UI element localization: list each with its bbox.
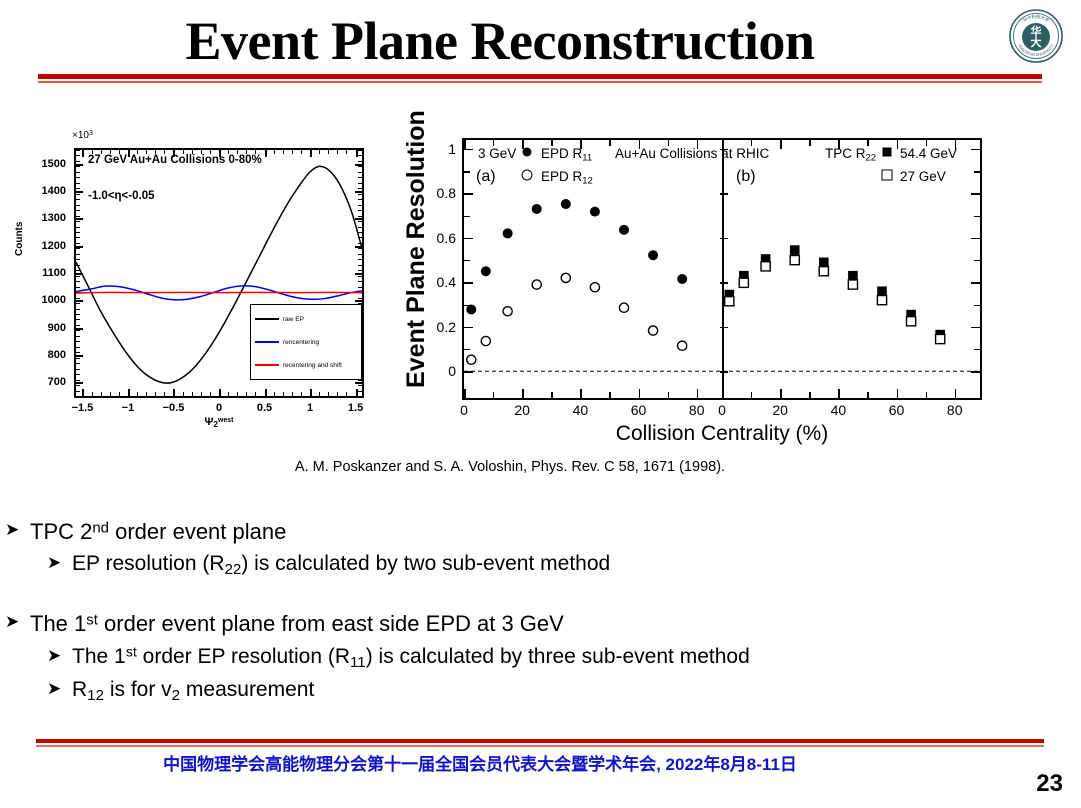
right-chart-x-tick-b: 40	[831, 402, 847, 418]
right-chart-x-tick-a: 0	[460, 402, 468, 418]
svg-text:华: 华	[1031, 24, 1042, 38]
left-chart-y-tick: 1400	[22, 185, 66, 197]
right-chart-y-tick: 0.8	[414, 185, 456, 201]
left-chart-x-tick: 1	[307, 402, 313, 414]
bullet-text: The 1st order EP resolution (R11) is cal…	[72, 645, 750, 668]
legend-swatch-recentering	[255, 341, 279, 343]
legend-label-epd-r12: EPD R12	[541, 169, 593, 186]
left-chart-x-tick: −0.5	[163, 402, 185, 414]
bullet-list: ➤TPC 2nd order event plane➤EP resolution…	[0, 516, 1081, 708]
legend-marker-epd-r11	[523, 148, 532, 157]
left-chart-x-tick: 0	[216, 402, 222, 414]
footer-divider	[36, 739, 1044, 747]
bullet-item-level-1: ➤TPC 2nd order event plane	[0, 516, 1081, 547]
left-chart-y-tick: 1100	[22, 267, 66, 279]
bullet-arrow-icon: ➤	[47, 677, 61, 701]
bullet-arrow-icon: ➤	[47, 551, 61, 575]
footer-conference-text: 中国物理学会高能物理分会第十一届全国会员代表大会暨学术年会, 2022年8月8-…	[0, 750, 960, 775]
bullet-text: The 1st order event plane from east side…	[30, 611, 564, 636]
chart-event-plane-angle-distribution: ×103 Counts 7008009001000110012001300140…	[22, 128, 390, 428]
right-chart-x-tick-a: 40	[573, 402, 589, 418]
panel-label-a: (a)	[476, 168, 496, 186]
legend-marker-27-gev	[882, 170, 893, 181]
page-number: 23	[1036, 770, 1063, 798]
bullet-arrow-icon: ➤	[47, 644, 61, 668]
svg-text:大: 大	[1031, 35, 1042, 49]
legend-label-recentering: rencentering	[283, 339, 319, 346]
bullet-item-level-2: ➤EP resolution (R22) is calculated by tw…	[0, 549, 1081, 580]
page-title: Event Plane Reconstruction	[0, 14, 1000, 68]
bullet-item-level-2: ➤The 1st order EP resolution (R11) is ca…	[0, 642, 1081, 673]
left-chart-y-tick: 1000	[22, 294, 66, 306]
left-chart-y-tick: 1500	[22, 158, 66, 170]
left-chart-y-tick: 1200	[22, 240, 66, 252]
label-3-gev: 3 GeV	[478, 146, 516, 161]
y-axis-exponent: ×103	[72, 130, 93, 141]
label-tpc-r22: TPC R22	[825, 146, 876, 163]
bullet-arrow-icon: ➤	[5, 518, 19, 542]
legend-marker-epd-r12	[522, 170, 533, 181]
right-chart-y-tick: 0.6	[414, 230, 456, 246]
legend-label-epd-r11: EPD R11	[541, 146, 592, 163]
left-chart-y-minor-tick	[76, 396, 80, 397]
bullet-text: EP resolution (R22) is calculated by two…	[72, 552, 610, 575]
left-chart-annotation-2: -1.0<η<-0.05	[88, 190, 154, 202]
svg-text:华中科技大学: 华中科技大学	[1022, 13, 1051, 24]
bullet-text: TPC 2nd order event plane	[30, 519, 286, 544]
right-chart-x-tick-b: 80	[947, 402, 963, 418]
left-chart-x-tick: 0.5	[257, 402, 272, 414]
bullet-text: R12 is for v2 measurement	[72, 678, 314, 701]
left-chart-x-tick: −1	[122, 402, 135, 414]
right-chart-x-axis-title: Collision Centrality (%)	[616, 422, 828, 446]
legend-marker-544-gev	[883, 148, 892, 157]
left-chart-y-minor-tick	[358, 396, 362, 397]
legend-swatch-raw-ep	[255, 318, 279, 320]
right-chart-x-tick-b: 60	[889, 402, 905, 418]
left-chart-legend: raw EP rencentering recentering and shif…	[250, 304, 362, 380]
left-chart-y-tick: 700	[22, 376, 66, 388]
label-center-title: Au+Au Collisions at RHIC	[615, 146, 769, 161]
slide-root: Event Plane Reconstruction 华 大 华中科技大学 HU…	[0, 0, 1081, 808]
right-chart-y-tick: 0.4	[414, 274, 456, 290]
citation-text: A. M. Poskanzer and S. A. Voloshin, Phys…	[0, 459, 1020, 475]
legend-swatch-recentering-shift	[255, 364, 279, 366]
right-chart-x-tick-b: 0	[718, 402, 726, 418]
right-chart-y-tick: 1	[414, 141, 456, 157]
left-chart-x-axis-title: Ψ2west	[205, 416, 234, 429]
right-chart-x-tick-a: 60	[631, 402, 647, 418]
right-chart-y-tick: 0.2	[414, 319, 456, 335]
left-chart-y-tick: 800	[22, 349, 66, 361]
bullet-item-level-1: ➤The 1st order event plane from east sid…	[0, 608, 1081, 639]
chart-event-plane-resolution: Event Plane Resolution 00.20.40.60.81020…	[400, 122, 1000, 452]
left-chart-x-tick: 1.5	[348, 402, 363, 414]
hust-university-seal-icon: 华 大 华中科技大学 HUAZHONG UNIVERSITY	[1008, 8, 1064, 64]
figure-area: ×103 Counts 7008009001000110012001300140…	[0, 120, 1081, 490]
legend-label-27-gev: 27 GeV	[900, 169, 946, 184]
bullet-spacer	[0, 582, 1081, 608]
panel-label-b: (b)	[736, 168, 756, 186]
bullet-item-level-2: ➤R12 is for v2 measurement	[0, 675, 1081, 706]
left-chart-y-tick: 900	[22, 322, 66, 334]
legend-label-544-gev: 54.4 GeV	[900, 146, 957, 161]
left-chart-x-tick: −1.5	[72, 402, 94, 414]
right-chart-x-tick-a: 80	[689, 402, 705, 418]
left-chart-annotation-1: 27 GeV Au+Au Collisions 0-80%	[88, 154, 262, 166]
right-chart-x-tick-a: 20	[514, 402, 530, 418]
left-chart-y-tick: 1300	[22, 212, 66, 224]
legend-label-recentering-shift: recentering and shift	[283, 362, 342, 369]
title-divider	[38, 74, 1042, 83]
bullet-arrow-icon: ➤	[5, 610, 19, 634]
legend-label-raw-ep: raw EP	[283, 316, 304, 323]
right-chart-y-tick: 0	[414, 363, 456, 379]
right-chart-x-tick-b: 20	[772, 402, 788, 418]
